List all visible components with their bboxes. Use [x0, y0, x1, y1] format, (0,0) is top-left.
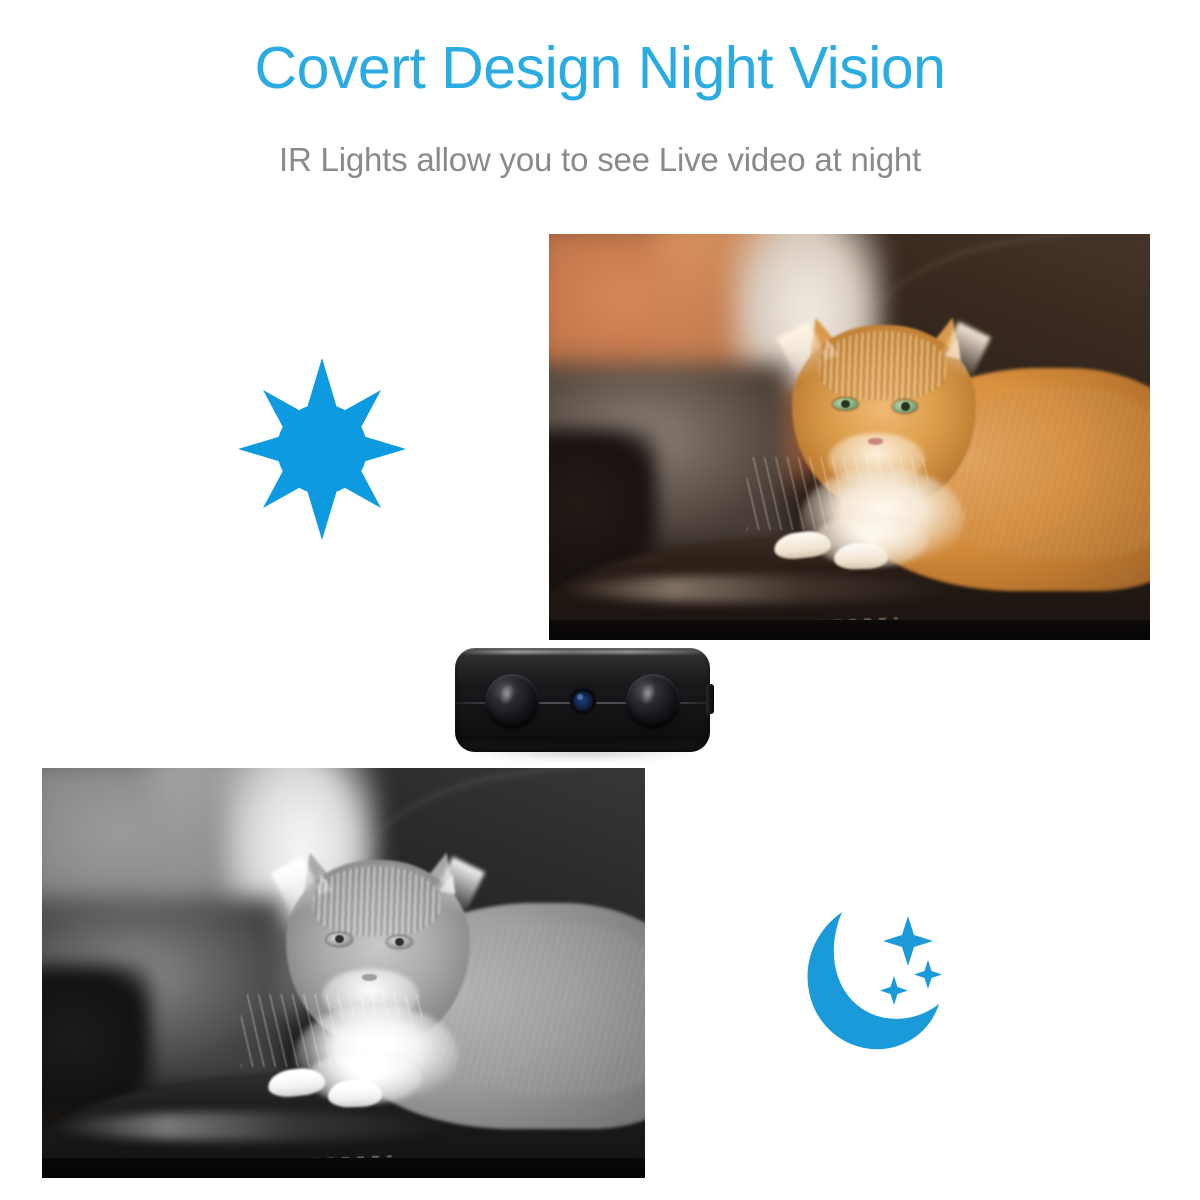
ir-led-left [485, 674, 539, 728]
cat [42, 768, 645, 1178]
cat-pupil-left [841, 400, 850, 408]
cat-pupil-right [901, 402, 910, 410]
daytime-color-photo [549, 234, 1150, 640]
cat-forehead-stripes [313, 866, 440, 936]
camera-top-edge-highlight [461, 650, 704, 654]
cat-paw-right [834, 542, 889, 570]
cat-scene-grayscale [42, 768, 645, 1178]
cat-forehead-stripes [819, 331, 945, 400]
moon-stars-icon [798, 898, 960, 1060]
nightvision-grayscale-photo [42, 768, 645, 1178]
camera-body [455, 648, 710, 752]
page-title: Covert Design Night Vision [0, 38, 1200, 100]
ir-led-right [626, 674, 680, 728]
cat-scene-color [549, 234, 1150, 640]
camera-lens [570, 688, 596, 714]
page-subtitle: IR Lights allow you to see Live video at… [0, 141, 1200, 179]
camera-drop-shadow [467, 747, 698, 761]
sun-icon [236, 356, 408, 542]
cat [549, 234, 1150, 640]
mini-hidden-camera[interactable] [455, 648, 710, 752]
camera-side-button[interactable] [706, 684, 714, 714]
